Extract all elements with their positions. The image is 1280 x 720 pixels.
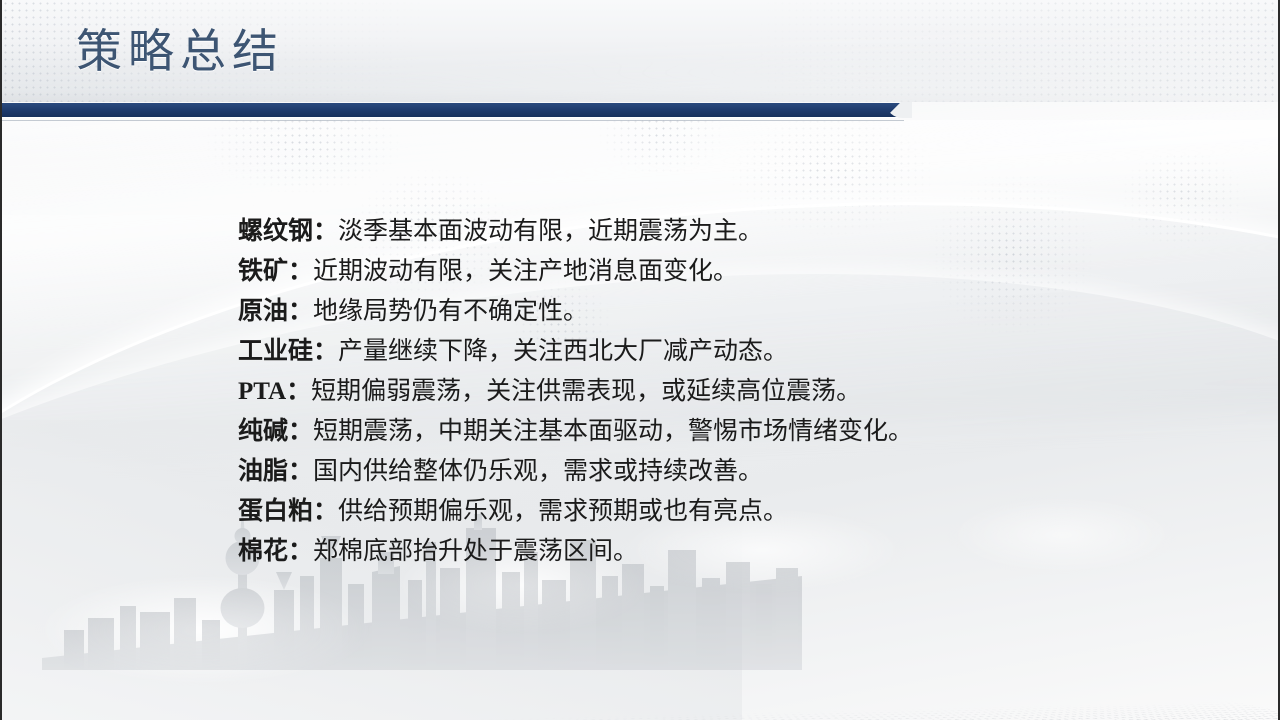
list-item-text: 地缘局势仍有不确定性。	[313, 298, 588, 325]
page-title: 策略总结	[76, 26, 284, 78]
list-item: 工业硅：产量继续下降，关注西北大厂减产动态。	[238, 332, 1238, 372]
list-item: 螺纹钢：淡季基本面波动有限，近期震荡为主。	[238, 212, 1238, 252]
list-item-label: 蛋白粕：	[238, 498, 338, 525]
list-item-text: 国内供给整体仍乐观，需求或持续改善。	[313, 458, 763, 485]
list-item-label: 棉花：	[238, 538, 313, 565]
list-item-label: 纯碱：	[238, 418, 313, 445]
list-item: 原油：地缘局势仍有不确定性。	[238, 292, 1238, 332]
list-item-text: 近期波动有限，关注产地消息面变化。	[313, 258, 738, 285]
list-item: 蛋白粕：供给预期偏乐观，需求预期或也有亮点。	[238, 492, 1238, 532]
list-item-text: 淡季基本面波动有限，近期震荡为主。	[338, 218, 763, 245]
header-hairline-divider	[2, 120, 904, 121]
list-item-label: PTA：	[238, 378, 311, 405]
list-item: PTA：短期偏弱震荡，关注供需表现，或延续高位震荡。	[238, 372, 1238, 412]
list-item: 纯碱：短期震荡，中期关注基本面驱动，警惕市场情绪变化。	[238, 412, 1238, 452]
list-item-label: 原油：	[238, 298, 313, 325]
list-item-label: 油脂：	[238, 458, 313, 485]
header-accent-bar	[2, 103, 910, 117]
list-item-label: 工业硅：	[238, 338, 338, 365]
list-item-text: 短期偏弱震荡，关注供需表现，或延续高位震荡。	[311, 378, 861, 405]
list-item: 油脂：国内供给整体仍乐观，需求或持续改善。	[238, 452, 1238, 492]
list-item-label: 铁矿：	[238, 258, 313, 285]
list-item-label: 螺纹钢：	[238, 218, 338, 245]
list-item-text: 郑棉底部抬升处于震荡区间。	[313, 538, 638, 565]
slide-canvas: 策略总结 螺纹钢：淡季基本面波动有限，近期震荡为主。 铁矿：近期波动有限，关注产…	[0, 0, 1280, 720]
list-item-text: 产量继续下降，关注西北大厂减产动态。	[338, 338, 788, 365]
strategy-summary-list: 螺纹钢：淡季基本面波动有限，近期震荡为主。 铁矿：近期波动有限，关注产地消息面变…	[238, 212, 1238, 572]
list-item-text: 供给预期偏乐观，需求预期或也有亮点。	[338, 498, 788, 525]
list-item: 棉花：郑棉底部抬升处于震荡区间。	[238, 532, 1238, 572]
list-item-text: 短期震荡，中期关注基本面驱动，警惕市场情绪变化。	[313, 418, 913, 445]
list-item: 铁矿：近期波动有限，关注产地消息面变化。	[238, 252, 1238, 292]
